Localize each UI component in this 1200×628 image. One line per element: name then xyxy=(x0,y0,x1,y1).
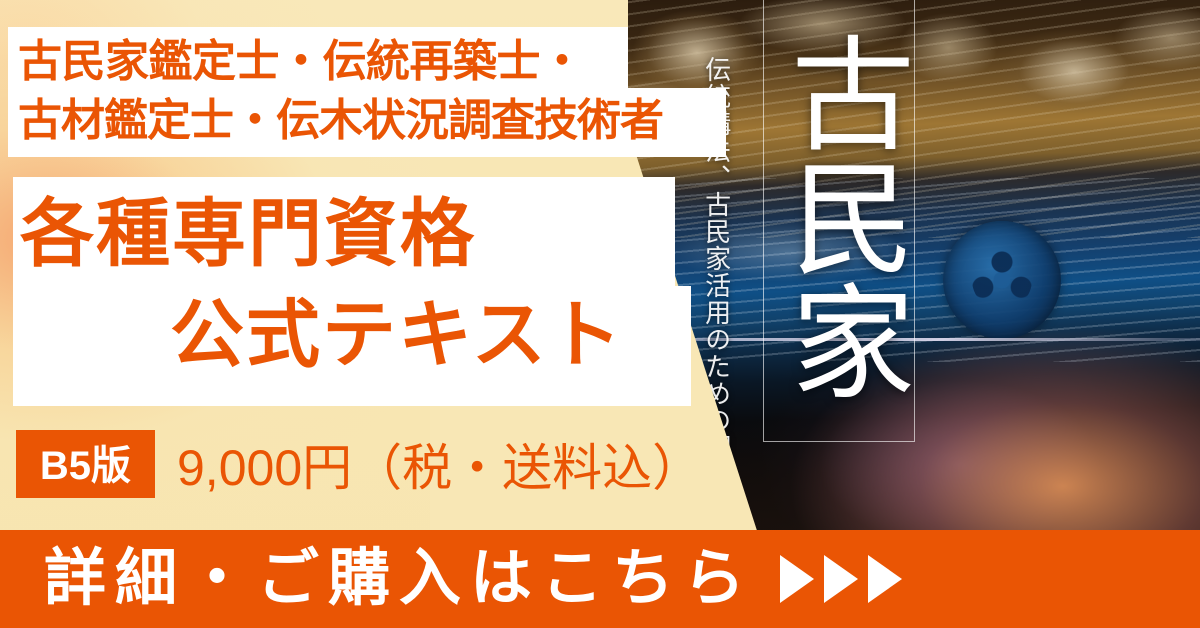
price-row: B5版 9,000円（税・送料込） xyxy=(16,430,702,498)
triangle-right-icon xyxy=(780,555,814,603)
cta-label: 詳細・ご購入はこちら xyxy=(44,548,754,610)
title-line-2: 公式テキスト xyxy=(20,284,680,385)
triangle-right-icon xyxy=(868,555,902,603)
page-title: 各種専門資格 公式テキスト xyxy=(20,183,680,386)
headline-line-2: 古材鑑定士・伝木状況調査技術者 xyxy=(18,92,724,151)
promo-banner[interactable]: 古民家 伝統構法、古民家活用のための調査と再生の 古民家鑑定士・伝統再築士・ 古… xyxy=(0,0,1200,628)
triangle-right-icon xyxy=(824,555,858,603)
cta-arrow-group xyxy=(780,555,902,603)
family-crest-medallion-icon xyxy=(943,221,1061,339)
headline: 古民家鑑定士・伝統再築士・ 古材鑑定士・伝木状況調査技術者 xyxy=(18,33,724,150)
cta-bar[interactable]: 詳細・ご購入はこちら xyxy=(0,530,1200,628)
format-badge: B5版 xyxy=(16,430,155,498)
book-cover-title: 古民家 xyxy=(770,6,910,426)
price-text: 9,000円（税・送料込） xyxy=(177,428,702,500)
title-line-1: 各種専門資格 xyxy=(20,192,476,275)
headline-line-1: 古民家鑑定士・伝統再築士・ xyxy=(18,33,724,92)
